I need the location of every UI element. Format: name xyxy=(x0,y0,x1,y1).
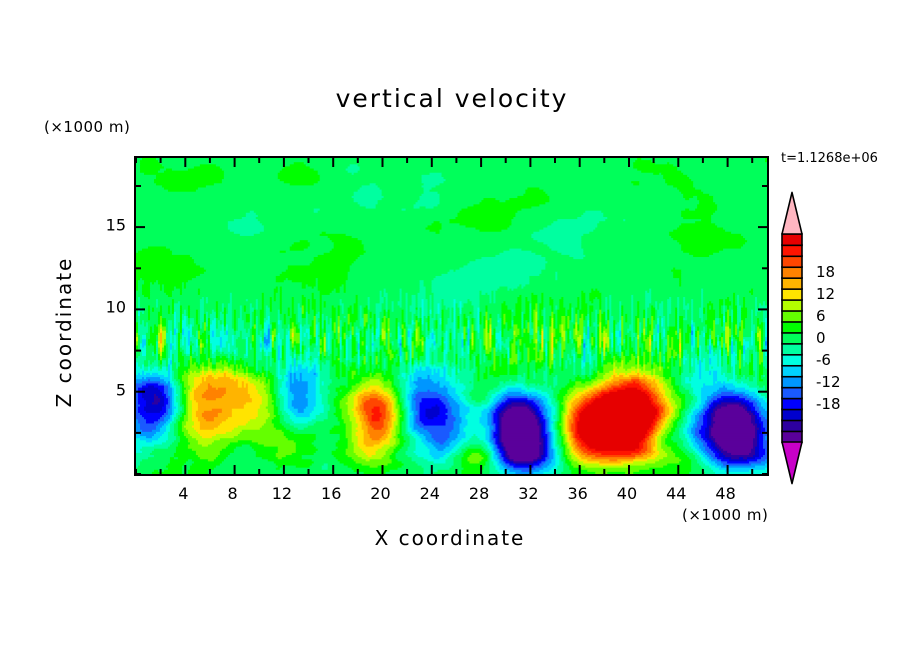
colorbar-tick-label: -6 xyxy=(816,351,831,369)
colorbar-tick-label: -18 xyxy=(816,395,841,413)
colorbar-tick-label: 18 xyxy=(816,263,835,281)
x-tick-label: 12 xyxy=(272,484,292,503)
y-tick-label: 10 xyxy=(90,298,126,317)
colorbar-tick-label: 0 xyxy=(816,329,826,347)
x-tick-label: 4 xyxy=(178,484,188,503)
x-tick-label: 20 xyxy=(370,484,390,503)
x-axis-title: X coordinate xyxy=(330,526,570,550)
colorbar-tick-label: 12 xyxy=(816,285,835,303)
colorbar-tick-label: 6 xyxy=(816,307,826,325)
x-tick-label: 24 xyxy=(420,484,440,503)
y-axis-unit-label: (×1000 m) xyxy=(44,118,130,136)
x-tick-label: 8 xyxy=(228,484,238,503)
x-tick-label: 16 xyxy=(321,484,341,503)
time-annotation: t=1.1268e+06 xyxy=(781,151,878,166)
contour-plot-area xyxy=(134,156,769,476)
y-axis-title: Z coordinate xyxy=(52,232,76,432)
x-tick-label: 36 xyxy=(567,484,587,503)
contour-field xyxy=(136,158,767,474)
x-tick-label: 48 xyxy=(715,484,735,503)
x-axis-unit-label: (×1000 m) xyxy=(682,506,768,524)
colorbar xyxy=(776,190,816,520)
figure-canvas: vertical velocity (×1000 m) (×1000 m) t=… xyxy=(0,0,904,654)
x-tick-label: 44 xyxy=(666,484,686,503)
x-tick-label: 28 xyxy=(469,484,489,503)
y-tick-label: 15 xyxy=(90,216,126,235)
x-tick-label: 32 xyxy=(518,484,538,503)
page-title: vertical velocity xyxy=(0,84,904,113)
y-tick-label: 5 xyxy=(90,380,126,399)
colorbar-tick-label: -12 xyxy=(816,373,841,391)
x-tick-label: 40 xyxy=(617,484,637,503)
